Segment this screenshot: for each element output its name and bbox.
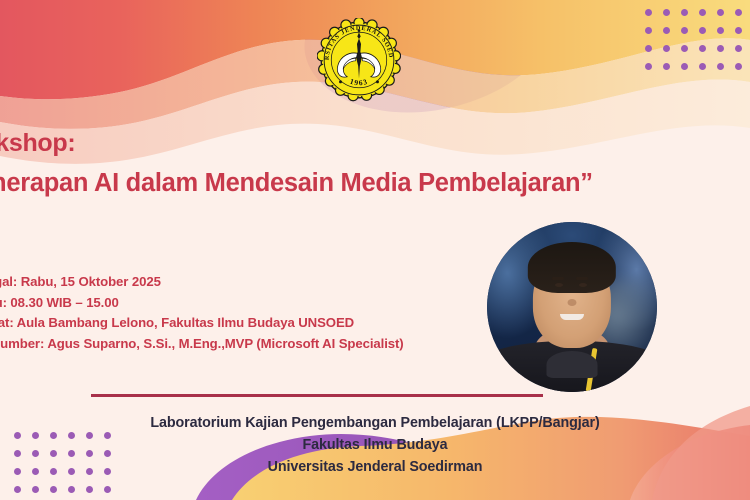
footer-block: Laboratorium Kajian Pengembangan Pembela… bbox=[0, 412, 750, 478]
portrait-eyebrow-right bbox=[576, 277, 588, 280]
portrait-nose bbox=[568, 299, 577, 306]
portrait-eyebrow-left bbox=[552, 277, 564, 280]
detail-speaker: Narasumber: Agus Suparno, S.Si., M.Eng.,… bbox=[0, 334, 484, 355]
detail-date: Tanggal: Rabu, 15 Oktober 2025 bbox=[0, 272, 484, 293]
portrait-mouth bbox=[560, 314, 584, 320]
portrait-hair bbox=[528, 242, 616, 293]
footer-university: Universitas Jenderal Soedirman bbox=[0, 456, 750, 478]
footer-organizer: Laboratorium Kajian Pengembangan Pembela… bbox=[0, 412, 750, 434]
footer-faculty: Fakultas Ilmu Budaya bbox=[0, 434, 750, 456]
page-title-line-1: Workshop: bbox=[0, 128, 738, 158]
detail-time: Waktu: 08.30 WIB – 15.00 bbox=[0, 293, 484, 314]
divider-rule bbox=[91, 394, 543, 397]
headline-block: Workshop: “Penerapan AI dalam Mendesain … bbox=[0, 128, 738, 200]
event-details-list: Tanggal: Rabu, 15 Oktober 2025 Waktu: 08… bbox=[0, 272, 484, 354]
speaker-portrait bbox=[487, 222, 657, 392]
portrait-collar bbox=[547, 351, 598, 378]
detail-venue: Tempat: Aula Bambang Lelono, Fakultas Il… bbox=[0, 313, 484, 334]
page-title-line-2: “Penerapan AI dalam Mendesain Media Pemb… bbox=[0, 166, 738, 200]
unsoed-logo: UNIVERSITAS JENDERAL SOEDIRMAN 1963 bbox=[317, 18, 401, 102]
workshop-poster: UNIVERSITAS JENDERAL SOEDIRMAN 1963 Work… bbox=[0, 0, 750, 500]
